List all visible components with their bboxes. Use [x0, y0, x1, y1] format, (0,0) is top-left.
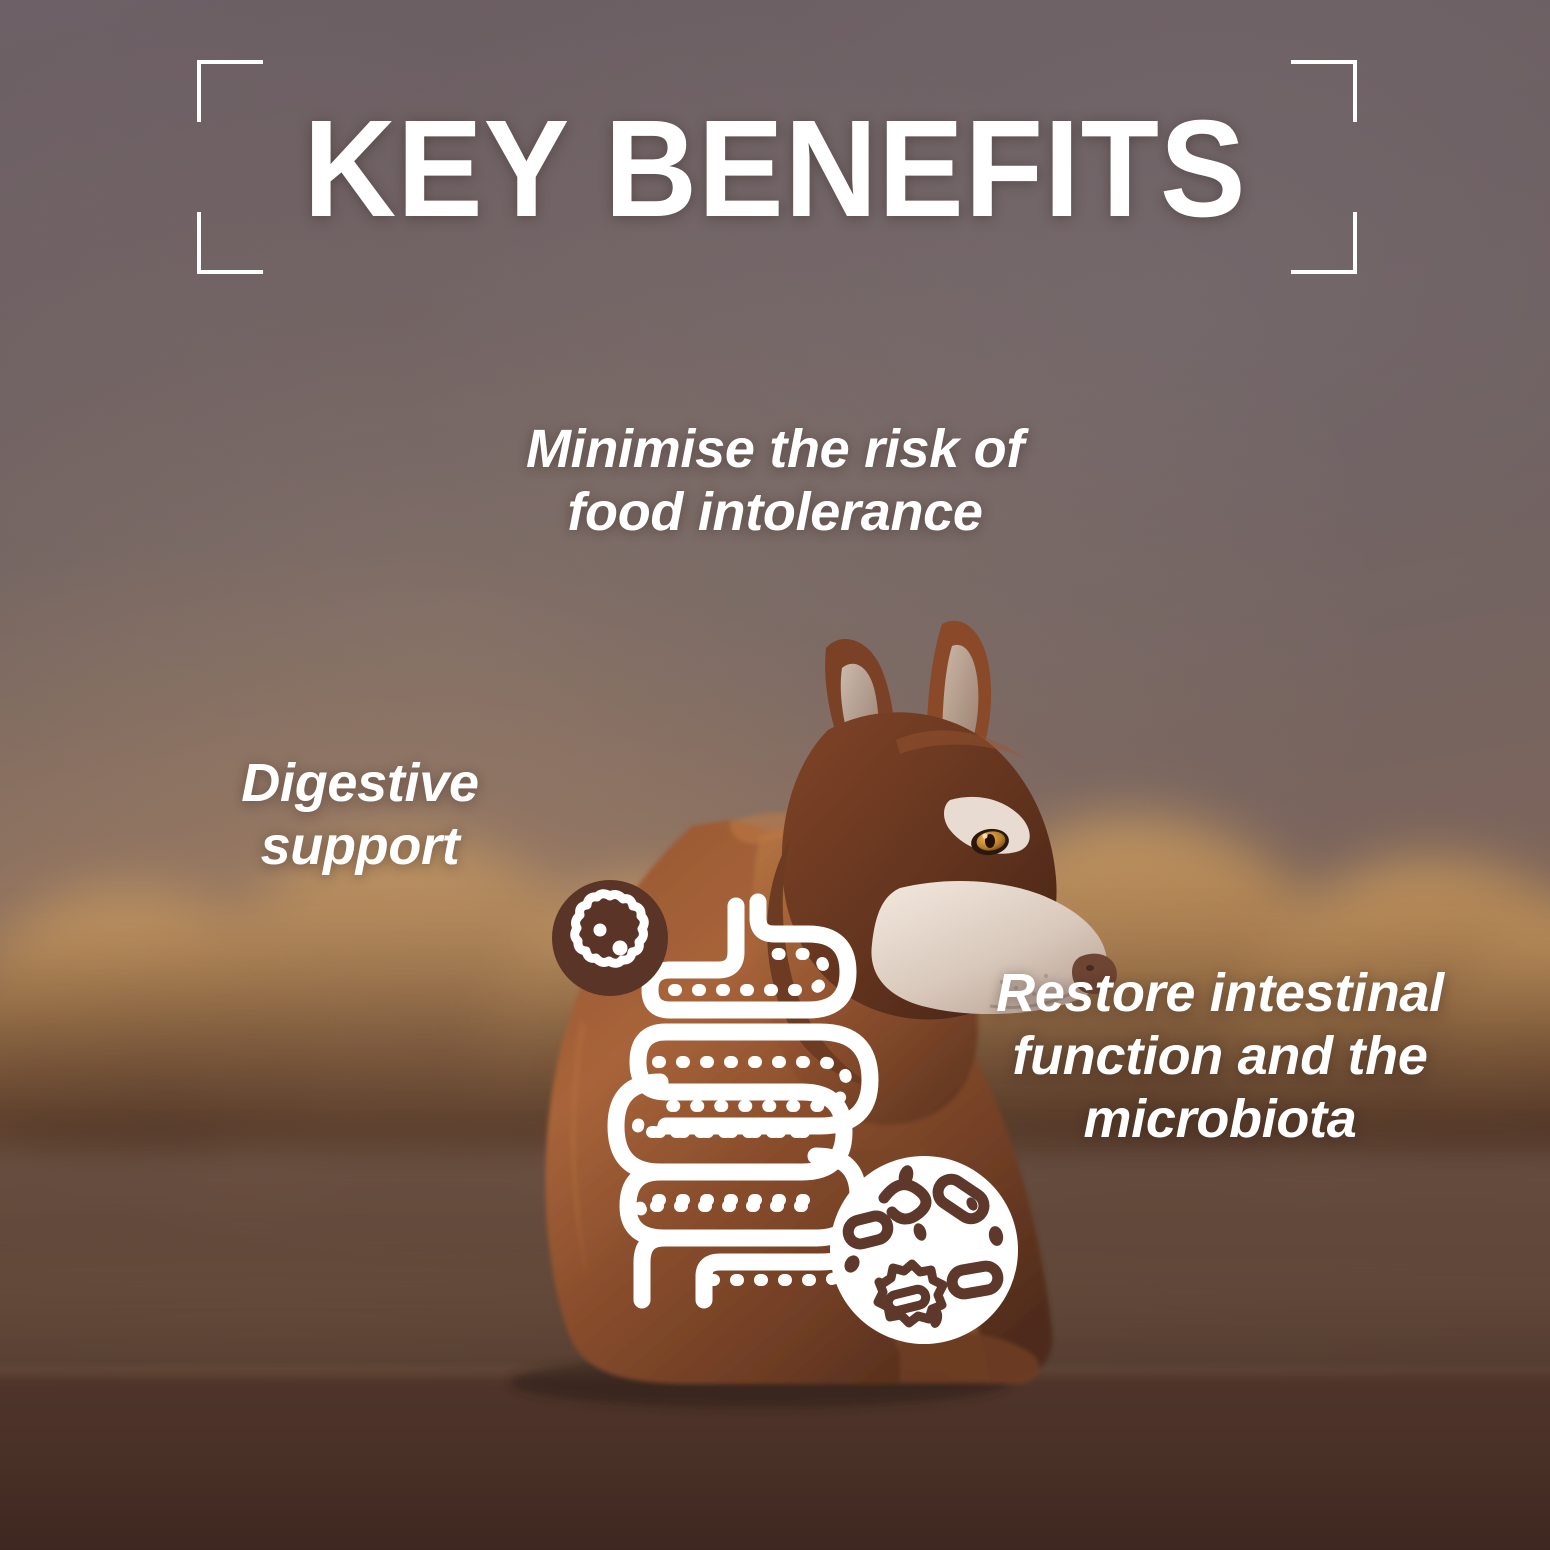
cell-nucleus-dot: [594, 924, 607, 937]
benefit-line: Minimise the risk of: [400, 418, 1150, 481]
cell-icon: [552, 880, 668, 996]
key-benefits-card: KEY BENEFITS Minimise the risk of food i…: [0, 0, 1550, 1550]
gut-health-icon-group: .tube { fill:none; stroke:#ffffff; strok…: [552, 880, 1032, 1360]
microbiota-icon: [830, 1156, 1018, 1344]
benefit-line: Digestive: [155, 752, 565, 815]
benefit-minimise-food-intolerance: Minimise the risk of food intolerance: [400, 418, 1150, 544]
benefit-line: food intolerance: [400, 481, 1150, 544]
intestine-segment: [642, 1238, 664, 1300]
cell-nucleus-dot: [613, 941, 628, 956]
benefit-line: support: [155, 815, 565, 878]
intestine-segment: [670, 906, 736, 970]
page-title: KEY BENEFITS: [54, 100, 1496, 238]
benefit-digestive-support: Digestive support: [155, 752, 565, 878]
